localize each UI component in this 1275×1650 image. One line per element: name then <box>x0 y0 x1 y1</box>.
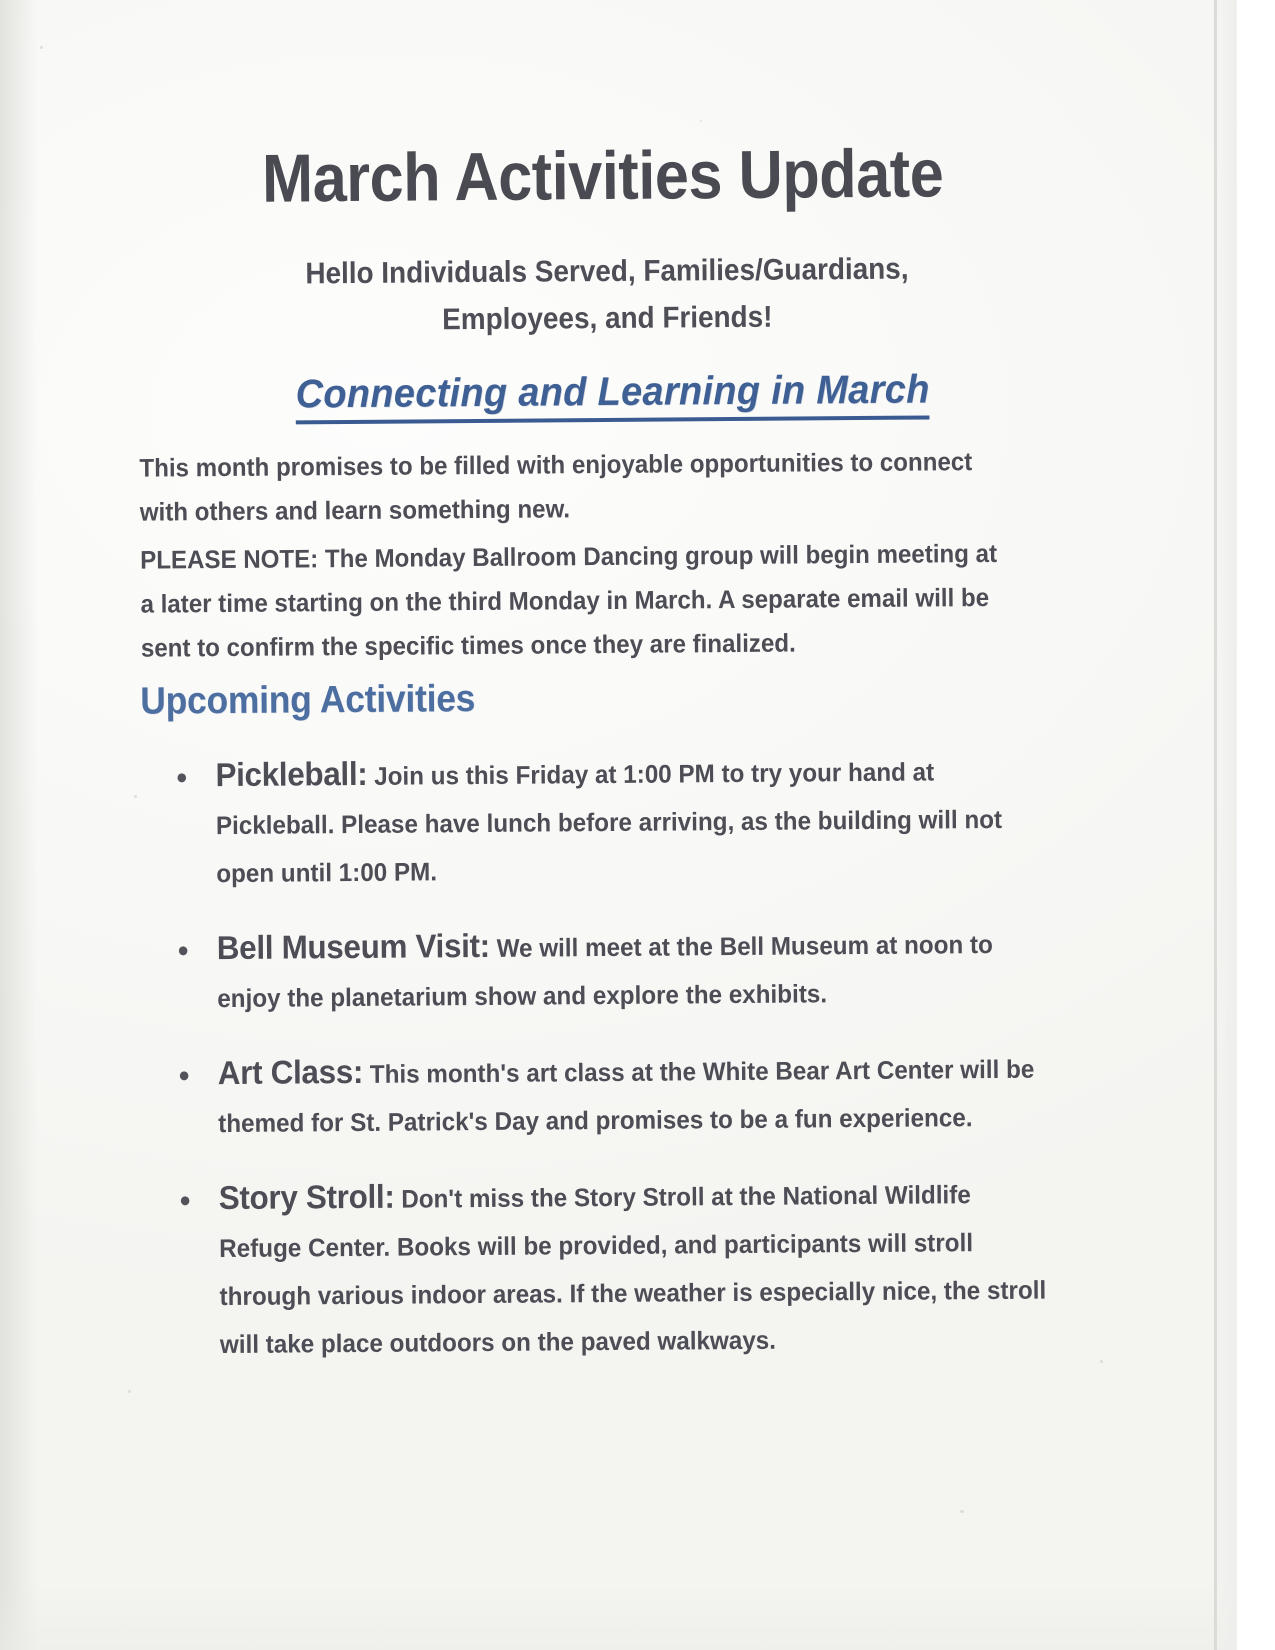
list-item: Story Stroll: Don't miss the Story Strol… <box>154 1168 1049 1370</box>
list-item: Pickleball: Join us this Friday at 1:00 … <box>151 745 1045 899</box>
paper-right-edge <box>1213 0 1275 1650</box>
bullet-icon <box>177 773 186 782</box>
activity-label: Story Stroll: <box>219 1178 395 1216</box>
list-item: Art Class: This month's art class at the… <box>153 1043 1047 1149</box>
list-item: Bell Museum Visit: We will meet at the B… <box>152 918 1046 1024</box>
greeting-line-2: Employees, and Friends! <box>179 297 1035 342</box>
activity-label: Bell Museum Visit: <box>217 927 490 966</box>
bullet-icon <box>179 946 188 955</box>
bullet-icon <box>180 1071 189 1080</box>
section-heading-upcoming-activities: Upcoming Activities <box>140 676 475 725</box>
page-title: March Activities Update <box>57 134 1149 219</box>
intro-heading-container: Connecting and Learning in March <box>148 364 1078 425</box>
activities-list: Pickleball: Join us this Friday at 1:00 … <box>151 744 1096 1395</box>
scanned-document-page: March Activities Update Hello Individual… <box>0 0 1275 1650</box>
please-note-paragraph: PLEASE NOTE: The Monday Ballroom Dancing… <box>140 532 1015 671</box>
document-content: March Activities Update Hello Individual… <box>0 0 1221 1650</box>
greeting-line-1: Hello Individuals Served, Families/Guard… <box>179 250 1035 295</box>
activity-label: Pickleball: <box>215 755 367 793</box>
bullet-icon <box>181 1196 190 1205</box>
activity-label: Art Class: <box>218 1053 364 1091</box>
intro-paragraph: This month promises to be filled with en… <box>139 440 1014 535</box>
intro-heading: Connecting and Learning in March <box>296 365 930 424</box>
